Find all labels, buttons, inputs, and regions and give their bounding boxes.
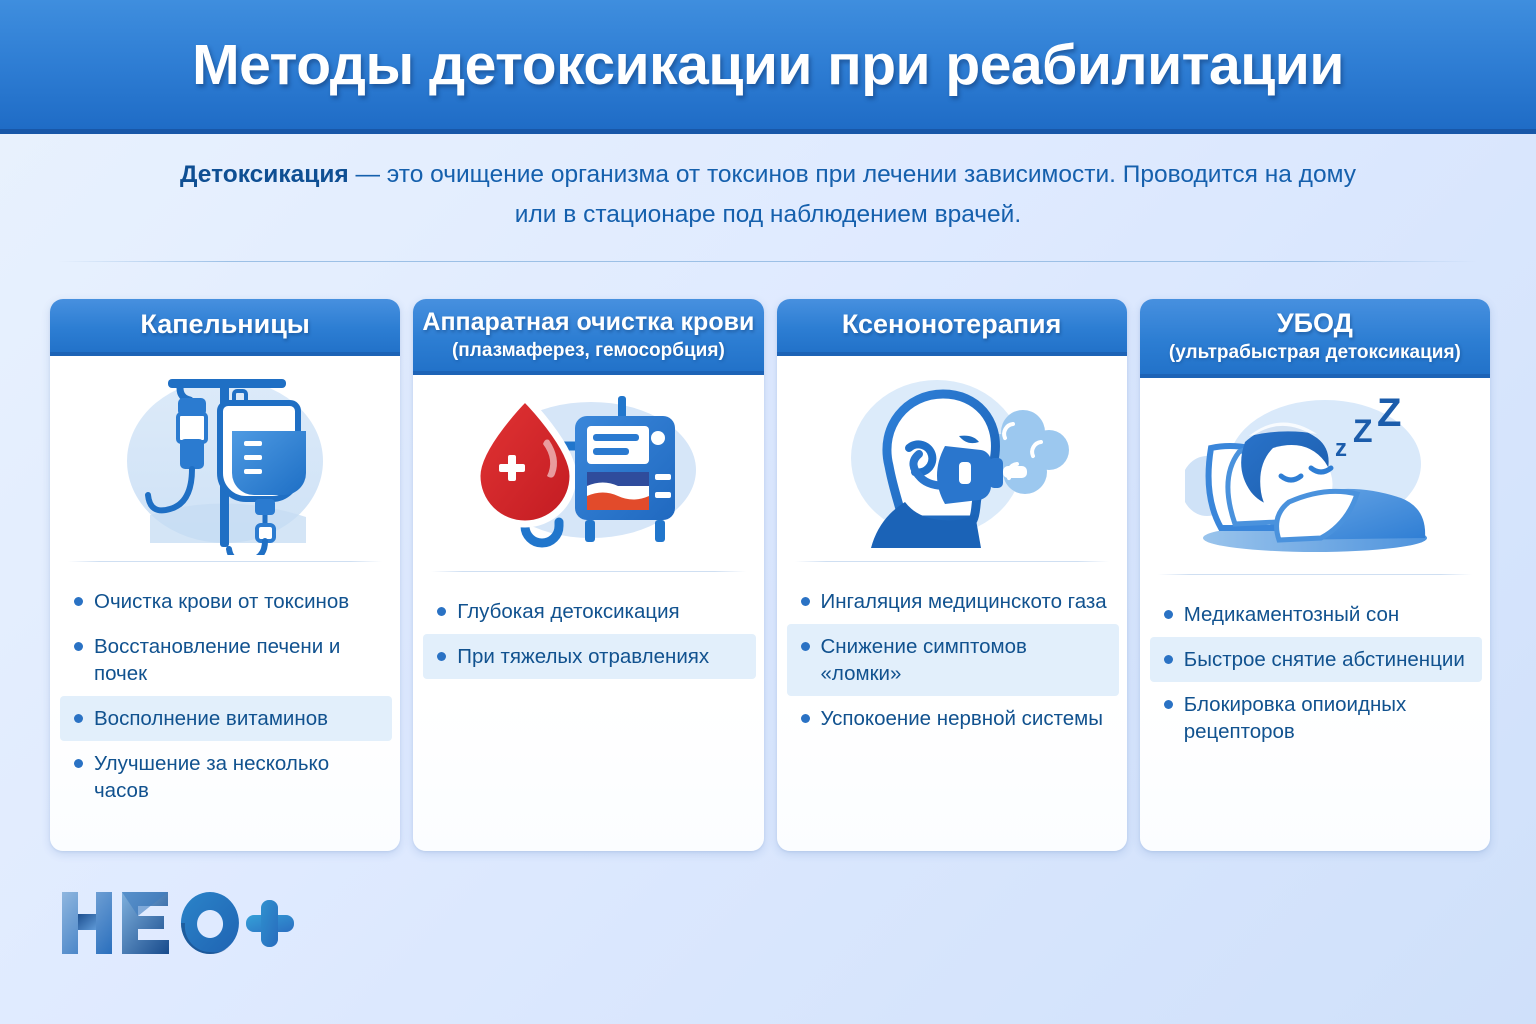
benefits-list-hardware-blood-purification: Глубокая детоксикация При тяжелых отравл… xyxy=(413,572,763,851)
card-header-ubod: УБОД (ультрабыстрая детоксикация) xyxy=(1140,299,1490,378)
card-header-xenon-therapy: Ксенонотерапия xyxy=(777,299,1127,356)
bullet-dot-icon xyxy=(74,759,83,768)
subtitle-lead: Детоксикация xyxy=(180,161,349,188)
subtitle-block: Детоксикация — это очищение организма от… xyxy=(170,155,1366,236)
card-hardware-blood-purification[interactable]: Аппаратная очистка крови (плазмаферез, г… xyxy=(413,299,763,851)
list-item[interactable]: Медикаментозный сон xyxy=(1150,592,1482,637)
svg-text:Z: Z xyxy=(1353,413,1373,449)
benefits-list-xenon-therapy: Ингаляция медицинското газа Снижение сим… xyxy=(777,562,1127,851)
card-icon-area xyxy=(413,375,763,571)
svg-text:z: z xyxy=(1335,435,1347,462)
card-drips[interactable]: Капельницы xyxy=(50,299,400,851)
card-icon-area xyxy=(50,356,400,561)
section-divider xyxy=(58,261,1478,262)
list-item-label: Медикаментозный сон xyxy=(1184,601,1399,628)
card-subtitle: (ультрабыстрая детоксикация) xyxy=(1148,341,1482,365)
page-header: Методы детоксикации при реабилитации xyxy=(0,0,1536,134)
list-item-label: Быстрое снятие абстиненции xyxy=(1184,646,1465,673)
bullet-dot-icon xyxy=(74,714,83,723)
list-item[interactable]: Успокоение нервной системы xyxy=(787,696,1119,741)
list-item[interactable]: Быстрое снятие абстиненции xyxy=(1150,637,1482,682)
list-item-label: Очистка крови от токсинов xyxy=(94,588,349,615)
bullet-dot-icon xyxy=(801,597,810,606)
bullet-dot-icon xyxy=(1164,700,1173,709)
list-item-label: Ингаляция медицинското газа xyxy=(821,588,1107,615)
bullet-dot-icon xyxy=(437,607,446,616)
card-xenon-therapy[interactable]: Ксенонотерапия xyxy=(777,299,1127,851)
list-item-label: Улучшение за несколько часов xyxy=(94,750,384,804)
page-title: Методы детоксикации при реабилитации xyxy=(192,32,1344,98)
list-item[interactable]: Блокировка опиоидных рецепторов xyxy=(1150,682,1482,754)
neo-plus-logo-icon xyxy=(58,884,298,962)
sleeping-patient-icon: z Z Z xyxy=(1185,390,1445,565)
card-subtitle: (плазмаферез, гемосорбция) xyxy=(421,339,755,363)
list-item-label: Восполнение витаминов xyxy=(94,705,328,732)
list-item[interactable]: Снижение симптомов «ломки» xyxy=(787,624,1119,696)
list-item[interactable]: При тяжелых отравлениях xyxy=(423,634,755,679)
list-item-label: Восстановление печени и почек xyxy=(94,633,384,687)
bullet-dot-icon xyxy=(437,652,446,661)
list-item-label: Успокоение нервной системы xyxy=(821,705,1104,732)
card-header-hardware-blood-purification: Аппаратная очистка крови (плазмаферез, г… xyxy=(413,299,763,375)
card-title: УБОД xyxy=(1148,308,1482,340)
card-title: Ксенонотерапия xyxy=(787,309,1117,341)
card-title: Аппаратная очистка крови xyxy=(421,308,755,338)
benefits-list-drips: Очистка крови от токсинов Восстановление… xyxy=(50,562,400,851)
blood-purification-icon xyxy=(463,388,713,563)
iv-drip-icon xyxy=(110,365,340,555)
list-item[interactable]: Восполнение витаминов xyxy=(60,696,392,741)
bullet-dot-icon xyxy=(74,597,83,606)
card-header-drips: Капельницы xyxy=(50,299,400,356)
inhalation-mask-icon xyxy=(827,370,1077,550)
brand-logo[interactable] xyxy=(58,884,298,962)
subtitle-text: Детоксикация — это очищение организма от… xyxy=(170,155,1366,236)
bullet-dot-icon xyxy=(801,642,810,651)
bullet-dot-icon xyxy=(801,714,810,723)
bullet-dot-icon xyxy=(74,642,83,651)
list-item-label: Глубокая детоксикация xyxy=(457,598,679,625)
list-item-label: Снижение симптомов «ломки» xyxy=(821,633,1111,687)
card-icon-area xyxy=(777,356,1127,561)
list-item-label: Блокировка опиоидных рецепторов xyxy=(1184,691,1474,745)
method-cards-row: Капельницы xyxy=(50,299,1490,851)
list-item[interactable]: Очистка крови от токсинов xyxy=(60,579,392,624)
card-icon-area: z Z Z xyxy=(1140,378,1490,574)
list-item[interactable]: Глубокая детоксикация xyxy=(423,589,755,634)
benefits-list-ubod: Медикаментозный сон Быстрое снятие абсти… xyxy=(1140,575,1490,851)
subtitle-rest: — это очищение организма от токсинов при… xyxy=(349,161,1356,228)
list-item[interactable]: Восстановление печени и почек xyxy=(60,624,392,696)
card-title: Капельницы xyxy=(60,309,390,341)
bullet-dot-icon xyxy=(1164,610,1173,619)
list-item[interactable]: Улучшение за несколько часов xyxy=(60,741,392,813)
svg-text:Z: Z xyxy=(1377,391,1401,435)
card-ubod[interactable]: УБОД (ультрабыстрая детоксикация) xyxy=(1140,299,1490,851)
bullet-dot-icon xyxy=(1164,655,1173,664)
list-item[interactable]: Ингаляция медицинското газа xyxy=(787,579,1119,624)
list-item-label: При тяжелых отравлениях xyxy=(457,643,709,670)
